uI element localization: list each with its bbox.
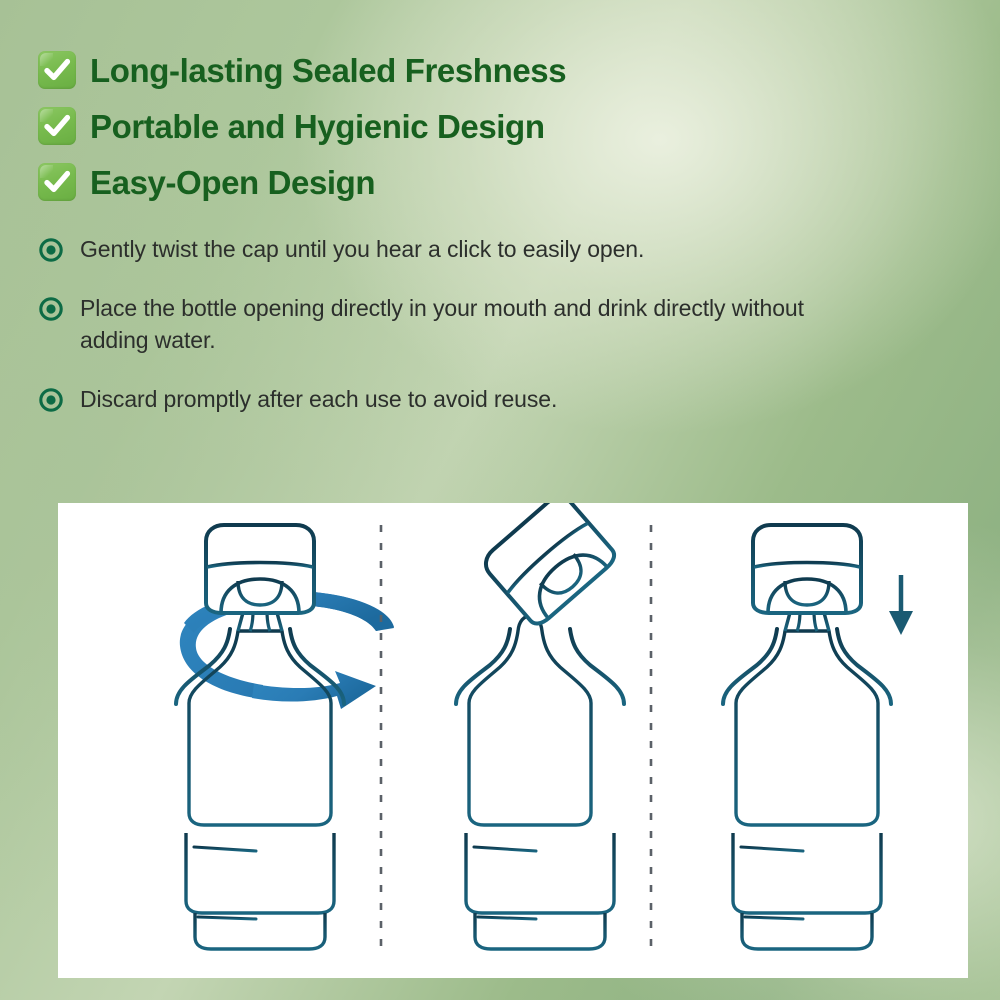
- illustration-panel: [58, 503, 968, 978]
- instruction-item: Place the bottle opening directly in you…: [38, 292, 828, 357]
- promo-page: Long-lasting Sealed Freshness Portable a…: [0, 0, 1000, 1000]
- instruction-text: Discard promptly after each use to avoid…: [80, 383, 557, 416]
- twist-cap-step: [176, 525, 394, 952]
- remove-cap-step: [456, 503, 624, 952]
- check-icon: [38, 107, 76, 145]
- tilted-cap-icon: [479, 503, 618, 628]
- headline-label: Portable and Hygienic Design: [90, 110, 545, 143]
- headline-item: Long-lasting Sealed Freshness: [38, 42, 566, 98]
- radio-dot-icon: [38, 387, 64, 413]
- instruction-text: Place the bottle opening directly in you…: [80, 292, 810, 357]
- bottle-cap: [753, 525, 861, 613]
- headline-item: Portable and Hygienic Design: [38, 98, 566, 154]
- instruction-item: Discard promptly after each use to avoid…: [38, 383, 828, 416]
- instruction-item: Gently twist the cap until you hear a cl…: [38, 233, 828, 266]
- replace-cap-step: [723, 525, 913, 952]
- check-icon: [38, 163, 76, 201]
- headline-label: Long-lasting Sealed Freshness: [90, 54, 566, 87]
- headline-item: Easy-Open Design: [38, 154, 566, 210]
- instruction-illustration: [58, 503, 968, 978]
- down-arrow-icon: [889, 575, 913, 635]
- feature-headline-list: Long-lasting Sealed Freshness Portable a…: [38, 42, 566, 210]
- check-icon: [38, 51, 76, 89]
- radio-dot-icon: [38, 296, 64, 322]
- headline-label: Easy-Open Design: [90, 166, 375, 199]
- radio-dot-icon: [38, 237, 64, 263]
- instruction-text: Gently twist the cap until you hear a cl…: [80, 233, 644, 266]
- bottle-cap: [206, 525, 314, 613]
- instruction-list: Gently twist the cap until you hear a cl…: [38, 233, 828, 416]
